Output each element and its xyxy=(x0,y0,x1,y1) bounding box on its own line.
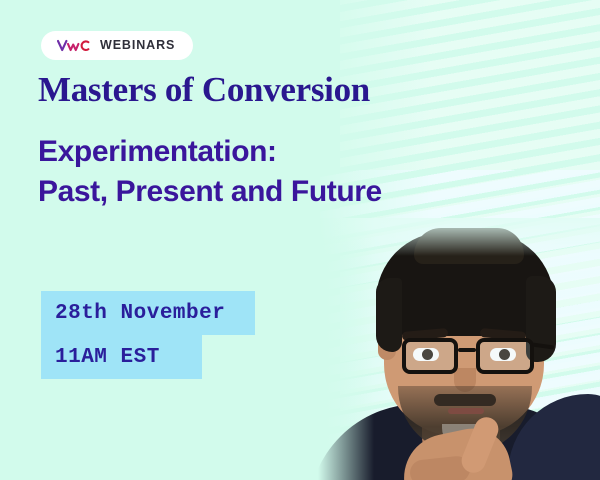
schedule-block: 28th November 11AM EST xyxy=(41,291,255,379)
schedule-date-row: 28th November xyxy=(41,291,255,335)
mouth-shape xyxy=(448,408,484,414)
vwo-logo-icon xyxy=(57,39,91,52)
series-title: Masters of Conversion xyxy=(38,72,370,107)
topic-line-1: Experimentation: xyxy=(38,132,382,172)
glasses-lens-right xyxy=(476,338,534,374)
webinar-poster: WEBINARS Masters of Conversion Experimen… xyxy=(0,0,600,480)
vwo-webinars-badge: WEBINARS xyxy=(41,31,193,60)
glasses-lens-left xyxy=(402,338,458,374)
schedule-date: 28th November xyxy=(41,291,255,335)
schedule-time: 11AM EST xyxy=(41,335,202,379)
webinar-topic: Experimentation: Past, Present and Futur… xyxy=(38,132,382,212)
moustache-shape xyxy=(434,394,496,406)
schedule-time-row: 11AM EST xyxy=(41,335,255,379)
speaker-photo xyxy=(318,218,600,480)
hair-left-shape xyxy=(376,278,402,352)
topic-line-2: Past, Present and Future xyxy=(38,172,382,212)
glasses-bridge xyxy=(458,348,476,352)
photo-left-fade xyxy=(318,218,374,480)
badge-label: WEBINARS xyxy=(100,39,175,52)
